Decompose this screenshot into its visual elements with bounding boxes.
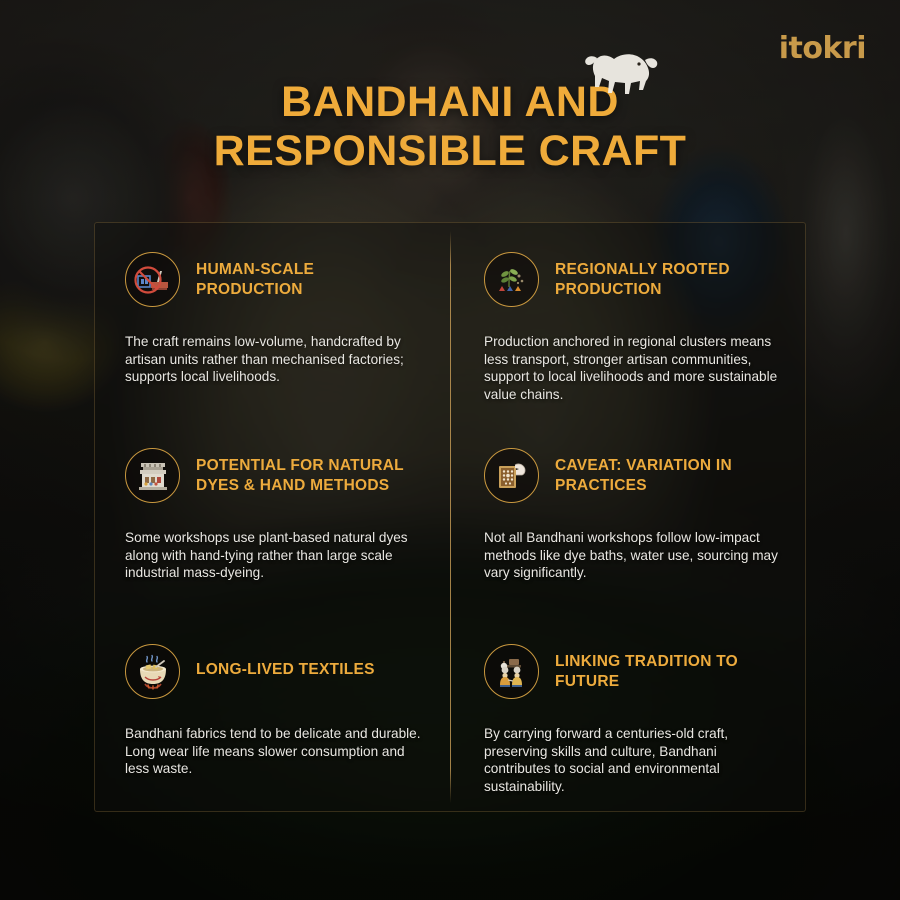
infographic-poster: itokri BANDHANI AND RESPONSIBLE CRAFT [0,0,900,900]
card-header: REGIONALLY ROOTED PRODUCTION [484,252,781,310]
artisan-workshop-building-icon [125,448,180,503]
card-natural-dyes-hand-methods: POTENTIAL FOR NATURAL DYES & HAND METHOD… [95,419,450,615]
card-title: HUMAN-SCALE PRODUCTION [196,252,421,300]
content-panel: HUMAN-SCALE PRODUCTION The craft remains… [94,222,806,812]
card-human-scale-production: HUMAN-SCALE PRODUCTION The craft remains… [95,223,450,419]
plant-dye-sprout-icon [484,252,539,307]
card-body: Bandhani fabrics tend to be delicate and… [125,725,422,778]
steaming-dye-pot-icon [125,644,180,699]
title-line-2: RESPONSIBLE CRAFT [120,127,780,176]
card-header: POTENTIAL FOR NATURAL DYES & HAND METHOD… [125,448,422,506]
card-title: POTENTIAL FOR NATURAL DYES & HAND METHOD… [196,448,421,496]
card-caveat-variation-in-practices: CAVEAT: VARIATION IN PRACTICES Not all B… [450,419,805,615]
card-body: Not all Bandhani workshops follow low-im… [484,529,781,582]
card-body: Production anchored in regional clusters… [484,333,781,404]
card-header: LONG-LIVED TEXTILES [125,644,422,702]
page-title: BANDHANI AND RESPONSIBLE CRAFT [0,78,900,175]
card-linking-tradition-to-future: LINKING TRADITION TO FUTURE By carrying … [450,615,805,811]
cards-grid: HUMAN-SCALE PRODUCTION The craft remains… [95,223,805,811]
hand-holding-fabric-swatch-icon [484,448,539,503]
no-factory-machine-icon [125,252,180,307]
card-regionally-rooted-production: REGIONALLY ROOTED PRODUCTION Production … [450,223,805,419]
card-body: The craft remains low-volume, handcrafte… [125,333,422,386]
card-title: REGIONALLY ROOTED PRODUCTION [555,252,781,300]
card-body: By carrying forward a centuries-old craf… [484,725,781,796]
card-header: LINKING TRADITION TO FUTURE [484,644,781,702]
card-title: LONG-LIVED TEXTILES [196,644,375,680]
card-long-lived-textiles: LONG-LIVED TEXTILES Bandhani fabrics ten… [95,615,450,811]
card-body: Some workshops use plant-based natural d… [125,529,422,582]
card-title: CAVEAT: VARIATION IN PRACTICES [555,448,781,496]
card-header: HUMAN-SCALE PRODUCTION [125,252,422,310]
two-artisans-weaving-icon [484,644,539,699]
brand-logo-itokri[interactable]: itokri [779,34,866,64]
card-title: LINKING TRADITION TO FUTURE [555,644,781,692]
card-header: CAVEAT: VARIATION IN PRACTICES [484,448,781,506]
title-line-1: BANDHANI AND [120,78,780,127]
